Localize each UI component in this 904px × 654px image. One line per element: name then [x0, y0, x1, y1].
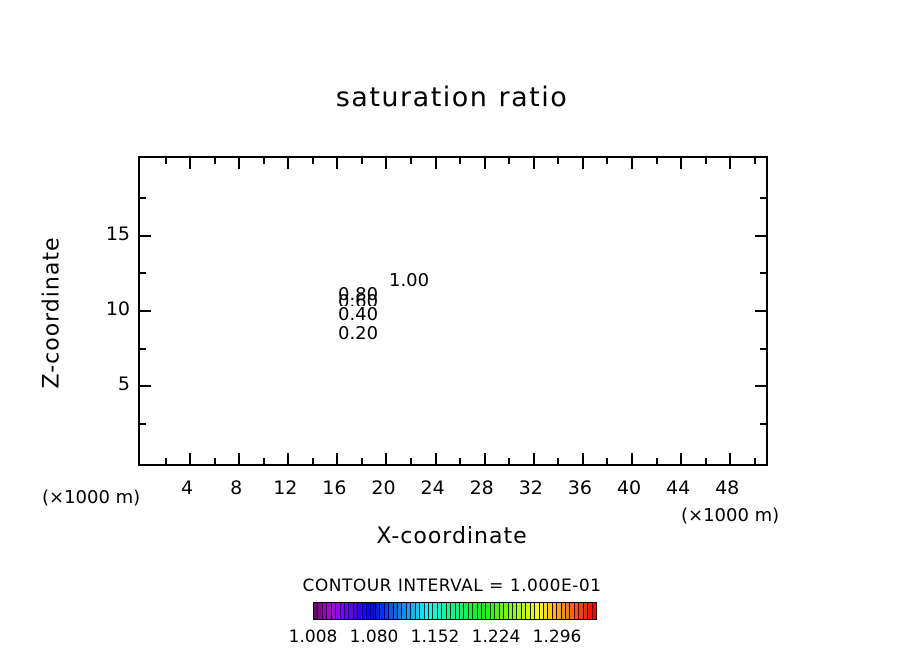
- y-tick-minor-right: [760, 272, 766, 274]
- colorbar-tick-label: 1.152: [405, 627, 465, 647]
- x-tick-major-top: [631, 158, 633, 169]
- colorbar-tick-label: 1.224: [466, 627, 526, 647]
- x-tick-minor: [410, 458, 412, 464]
- contour-label: 0.40: [337, 306, 379, 324]
- x-tick-minor-top: [754, 158, 756, 164]
- x-tick-minor-top: [656, 158, 658, 164]
- x-tick-minor: [459, 458, 461, 464]
- x-tick-major: [336, 453, 338, 464]
- x-tick-minor: [312, 458, 314, 464]
- x-axis-title: X-coordinate: [0, 524, 904, 549]
- x-tick-minor-top: [361, 158, 363, 164]
- x-tick-major-top: [287, 158, 289, 169]
- x-tick-major: [238, 453, 240, 464]
- x-tick-label: 36: [560, 477, 600, 499]
- x-tick-minor: [656, 458, 658, 464]
- contour-label: 1.00: [388, 272, 430, 290]
- y-tick-major: [140, 385, 151, 387]
- y-tick-label: 15: [96, 223, 130, 245]
- y-tick-minor: [140, 272, 146, 274]
- x-tick-major-top: [238, 158, 240, 169]
- x-tick-label: 44: [658, 477, 698, 499]
- x-tick-major: [287, 453, 289, 464]
- y-tick-major-right: [755, 310, 766, 312]
- contour-label: 0.20: [337, 325, 379, 343]
- x-tick-major: [533, 453, 535, 464]
- colorbar-caption: CONTOUR INTERVAL = 1.000E-01: [0, 576, 904, 596]
- y-tick-major: [140, 235, 151, 237]
- x-tick-minor-top: [263, 158, 265, 164]
- x-tick-minor-top: [705, 158, 707, 164]
- y-axis-title: Z-coordinate: [40, 233, 65, 393]
- y-tick-minor-right: [760, 197, 766, 199]
- y-axis-unit: (×1000 m): [42, 487, 140, 508]
- x-tick-label: 20: [363, 477, 403, 499]
- x-tick-label: 40: [609, 477, 649, 499]
- colorbar-band: [593, 603, 596, 619]
- x-tick-major: [631, 453, 633, 464]
- x-tick-minor: [754, 458, 756, 464]
- x-tick-major: [484, 453, 486, 464]
- x-tick-major-top: [680, 158, 682, 169]
- y-tick-major-right: [755, 385, 766, 387]
- colorbar-tick-label: 1.296: [527, 627, 587, 647]
- page-title: saturation ratio: [0, 82, 904, 113]
- x-tick-minor-top: [214, 158, 216, 164]
- x-tick-label: 16: [314, 477, 354, 499]
- x-tick-major-top: [484, 158, 486, 169]
- y-tick-minor: [140, 197, 146, 199]
- x-tick-minor: [557, 458, 559, 464]
- x-tick-minor: [263, 458, 265, 464]
- x-tick-major: [729, 453, 731, 464]
- y-tick-major-right: [755, 235, 766, 237]
- x-tick-minor: [508, 458, 510, 464]
- x-tick-major-top: [582, 158, 584, 169]
- x-tick-minor-top: [508, 158, 510, 164]
- x-tick-label: 24: [413, 477, 453, 499]
- x-tick-minor-top: [459, 158, 461, 164]
- x-tick-label: 48: [707, 477, 747, 499]
- x-tick-label: 28: [462, 477, 502, 499]
- x-tick-label: 32: [511, 477, 551, 499]
- x-tick-label: 8: [216, 477, 256, 499]
- colorbar-tick-label: 1.008: [283, 627, 343, 647]
- y-tick-minor-right: [760, 348, 766, 350]
- x-tick-minor-top: [410, 158, 412, 164]
- x-tick-major: [680, 453, 682, 464]
- x-tick-minor-top: [312, 158, 314, 164]
- colorbar: [313, 602, 597, 620]
- x-tick-label: 4: [167, 477, 207, 499]
- x-tick-major-top: [336, 158, 338, 169]
- x-tick-major: [582, 453, 584, 464]
- x-tick-major-top: [385, 158, 387, 169]
- x-tick-major-top: [729, 158, 731, 169]
- x-tick-major-top: [189, 158, 191, 169]
- x-tick-minor: [165, 458, 167, 464]
- x-tick-major-top: [435, 158, 437, 169]
- x-tick-minor-top: [165, 158, 167, 164]
- x-tick-minor: [214, 458, 216, 464]
- x-tick-major: [435, 453, 437, 464]
- y-tick-minor-right: [760, 423, 766, 425]
- y-tick-minor: [140, 348, 146, 350]
- x-tick-minor: [705, 458, 707, 464]
- x-tick-minor: [606, 458, 608, 464]
- x-axis-unit: (×1000 m): [681, 505, 779, 526]
- x-tick-major: [189, 453, 191, 464]
- y-tick-major: [140, 310, 151, 312]
- x-tick-minor-top: [557, 158, 559, 164]
- y-tick-label: 5: [96, 373, 130, 395]
- colorbar-tick-label: 1.080: [344, 627, 404, 647]
- x-tick-major: [385, 453, 387, 464]
- x-tick-minor: [361, 458, 363, 464]
- y-tick-minor: [140, 423, 146, 425]
- x-tick-minor-top: [606, 158, 608, 164]
- x-tick-label: 12: [265, 477, 305, 499]
- y-tick-label: 10: [96, 298, 130, 320]
- plot-frame: [138, 156, 768, 466]
- x-tick-major-top: [533, 158, 535, 169]
